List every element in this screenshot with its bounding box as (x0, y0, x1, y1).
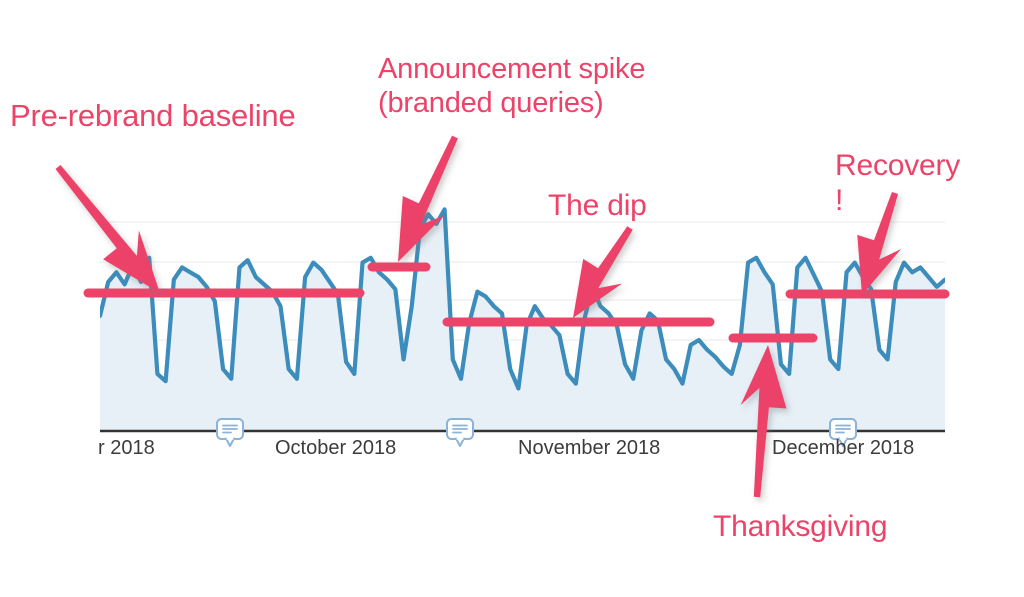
search-traffic-chart[interactable] (0, 0, 1024, 597)
axis-note-note-marker-3-icon[interactable] (830, 419, 856, 446)
chart-screenshot: Pre-rebrand baseline Announcement spike … (0, 0, 1024, 597)
axis-note-note-marker-2-icon[interactable] (447, 419, 473, 446)
axis-note-note-marker-1-icon[interactable] (217, 419, 243, 446)
